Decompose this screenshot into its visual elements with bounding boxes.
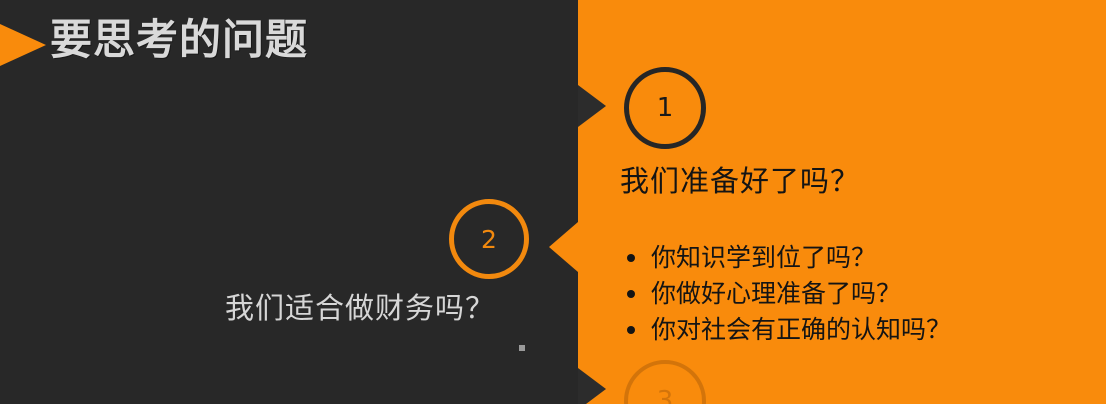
- bullet-dot-icon: [627, 254, 635, 262]
- item-2-heading: 我们适合做财务吗？: [225, 285, 495, 327]
- list-item-label: 你对社会有正确的认知吗？: [651, 315, 951, 344]
- list-item: 你对社会有正确的认知吗？: [624, 312, 951, 348]
- step-number-circle-1: 1: [624, 67, 706, 149]
- page-title: 要思考的问题: [50, 14, 308, 67]
- list-item-label: 你做好心理准备了吗？: [651, 279, 901, 308]
- slide-canvas: 要思考的问题 1 2 3 我们准备好了吗？ 你知识学到位了吗？ 你做好心理准备了…: [0, 0, 1106, 404]
- bullet-dot-icon: [627, 290, 635, 298]
- list-item-label: 你知识学到位了吗？: [651, 243, 876, 272]
- chevron-right-icon-3: [578, 368, 606, 404]
- item-1-bullet-list: 你知识学到位了吗？ 你做好心理准备了吗？ 你对社会有正确的认知吗？: [624, 240, 951, 348]
- chevron-right-icon-1: [578, 85, 606, 127]
- chevron-left-icon-2: [549, 222, 578, 272]
- bullet-dot-icon: [627, 326, 635, 334]
- step-number-circle-2: 2: [449, 199, 529, 279]
- stray-dot-mark: [519, 345, 525, 351]
- item-1-heading: 我们准备好了吗？: [620, 158, 860, 200]
- list-item: 你知识学到位了吗？: [624, 240, 951, 276]
- title-arrow-icon: [0, 24, 46, 66]
- list-item: 你做好心理准备了吗？: [624, 276, 951, 312]
